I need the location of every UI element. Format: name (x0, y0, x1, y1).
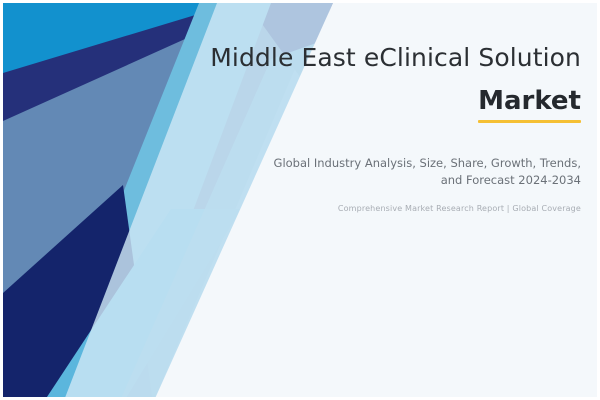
cover-text-layer: Middle East eClinical Solution Market Gl… (3, 3, 600, 400)
emphasis-word: Market (478, 87, 581, 116)
emphasis-word-wrap: Market (478, 87, 581, 124)
title-block: Middle East eClinical Solution Market (161, 43, 581, 123)
report-tagline: Comprehensive Market Research Report | G… (251, 204, 581, 213)
emphasis-underline (478, 120, 581, 123)
report-subtitle: Global Industry Analysis, Size, Share, G… (251, 155, 581, 188)
subtitle-block: Global Industry Analysis, Size, Share, G… (251, 155, 581, 213)
report-cover: Middle East eClinical Solution Market Gl… (0, 0, 600, 400)
page-title: Middle East eClinical Solution (161, 43, 581, 74)
